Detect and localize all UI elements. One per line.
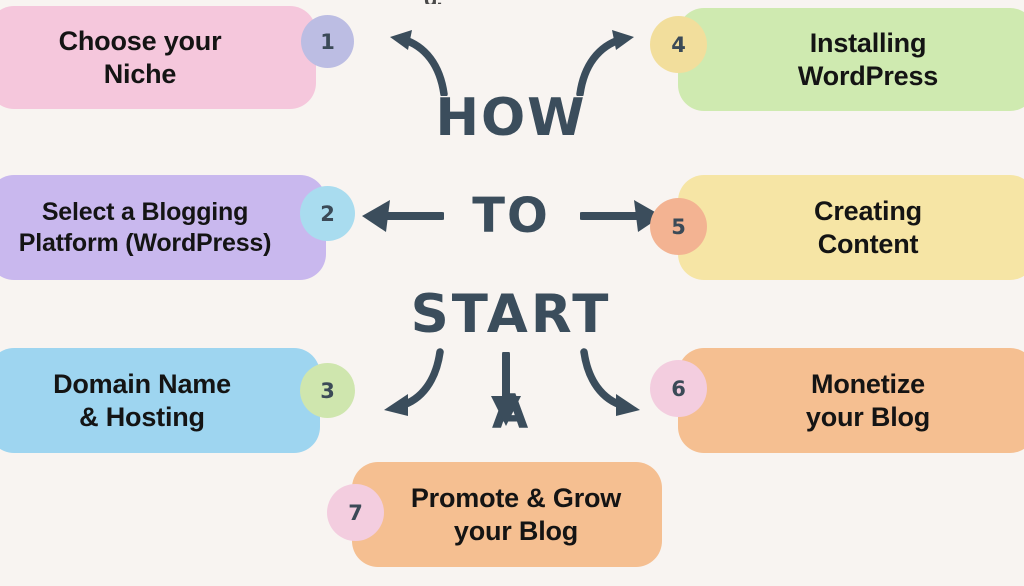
- step-card-1[interactable]: Choose your Niche: [0, 6, 316, 109]
- step-badge-4-number: 4: [671, 33, 686, 57]
- step-card-3-label: Domain Name & Hosting: [43, 368, 241, 434]
- headline-line-1: HOW: [396, 93, 626, 144]
- step-badge-3[interactable]: 3: [300, 363, 355, 418]
- step-card-4-label: Installing WordPress: [788, 27, 948, 93]
- step-card-7-label: Promote & Grow your Blog: [401, 482, 631, 548]
- step-badge-2-number: 2: [320, 202, 335, 226]
- step-badge-3-number: 3: [320, 379, 335, 403]
- step-card-6-label: Monetize your Blog: [796, 368, 940, 434]
- clipped-top-text: g.: [424, 0, 484, 4]
- step-card-5[interactable]: Creating Content: [678, 175, 1024, 280]
- step-badge-6-number: 6: [671, 377, 686, 401]
- step-badge-6[interactable]: 6: [650, 360, 707, 417]
- step-card-4[interactable]: Installing WordPress: [678, 8, 1024, 111]
- step-badge-1[interactable]: 1: [301, 15, 354, 68]
- step-card-1-label: Choose your Niche: [49, 25, 232, 91]
- step-badge-2[interactable]: 2: [300, 186, 355, 241]
- step-badge-5[interactable]: 5: [650, 198, 707, 255]
- infographic-canvas: g. HOW TO START A BLOG Choose your Ni: [0, 0, 1024, 573]
- step-card-7[interactable]: Promote & Grow your Blog: [352, 462, 662, 567]
- step-card-5-label: Creating Content: [804, 195, 932, 261]
- step-badge-5-number: 5: [671, 215, 686, 239]
- headline-line-4: A: [396, 390, 626, 436]
- step-card-6[interactable]: Monetize your Blog: [678, 348, 1024, 453]
- step-badge-4[interactable]: 4: [650, 16, 707, 73]
- step-card-3[interactable]: Domain Name & Hosting: [0, 348, 320, 453]
- headline-line-2: TO: [396, 193, 626, 240]
- headline-line-3: START: [396, 289, 626, 341]
- step-badge-7-number: 7: [348, 501, 363, 525]
- step-card-2-label: Select a Blogging Platform (WordPress): [9, 197, 282, 258]
- step-card-2[interactable]: Select a Blogging Platform (WordPress): [0, 175, 326, 280]
- step-badge-7[interactable]: 7: [327, 484, 384, 541]
- step-badge-1-number: 1: [320, 30, 335, 54]
